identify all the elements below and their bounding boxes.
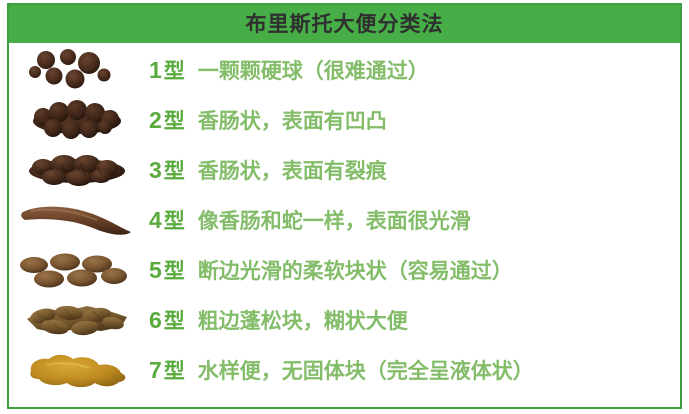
type-description: 一颗颗硬球（很难通过） [198,61,429,82]
type-unit-label: 型 [164,361,185,382]
watery-liquid-icon [9,345,149,395]
list-item: 2 型 香肠状，表面有凹凸 [9,95,680,145]
fluffy-mushy-icon [9,295,149,345]
chart-frame: 布里斯托大便分类法 [7,3,682,409]
list-item: 5 型 断边光滑的柔软块状（容易通过） [9,245,680,295]
list-item: 1 型 一颗颗硬球（很难通过） [9,45,680,95]
list-item: 4 型 像香肠和蛇一样，表面很光滑 [9,195,680,245]
type-number: 7 [149,359,162,382]
type-number: 3 [149,159,162,182]
type-number: 1 [149,59,162,82]
type-unit-label: 型 [164,211,185,232]
type-unit-label: 型 [164,261,185,282]
list-item: 3 型 香肠状，表面有裂痕 [9,145,680,195]
list-item-text: 7 型 水样便，无固体块（完全呈液体状） [149,359,534,382]
type-number: 4 [149,209,162,232]
type-unit-label: 型 [164,61,185,82]
type-description: 粗边蓬松块，糊状大便 [198,311,408,332]
lumpy-sausage-icon [9,95,149,145]
type-unit-label: 型 [164,111,185,132]
type-number: 2 [149,109,162,132]
type-description: 断边光滑的柔软块状（容易通过） [198,261,513,282]
list-item: 6 型 粗边蓬松块，糊状大便 [9,295,680,345]
type-description: 水样便，无固体块（完全呈液体状） [198,361,534,382]
separate-hard-lumps-icon [9,45,149,95]
list-item-text: 4 型 像香肠和蛇一样，表面很光滑 [149,209,471,232]
list-item: 7 型 水样便，无固体块（完全呈液体状） [9,345,680,395]
list-item-text: 2 型 香肠状，表面有凹凸 [149,109,387,132]
smooth-snake-icon [9,195,149,245]
chart-header: 布里斯托大便分类法 [9,5,680,43]
type-description: 香肠状，表面有裂痕 [198,161,387,182]
cracked-sausage-icon [9,145,149,195]
page-title: 布里斯托大便分类法 [246,14,444,35]
soft-blobs-icon [9,245,149,295]
list-item-text: 6 型 粗边蓬松块，糊状大便 [149,309,408,332]
bristol-stool-chart: 布里斯托大便分类法 [0,0,689,414]
type-number: 6 [149,309,162,332]
list-item-text: 3 型 香肠状，表面有裂痕 [149,159,387,182]
list-item-text: 1 型 一颗颗硬球（很难通过） [149,59,429,82]
type-description: 香肠状，表面有凹凸 [198,111,387,132]
list-item-text: 5 型 断边光滑的柔软块状（容易通过） [149,259,513,282]
type-unit-label: 型 [164,161,185,182]
type-list: 1 型 一颗颗硬球（很难通过） [9,43,680,407]
type-unit-label: 型 [164,311,185,332]
type-description: 像香肠和蛇一样，表面很光滑 [198,211,471,232]
type-number: 5 [149,259,162,282]
